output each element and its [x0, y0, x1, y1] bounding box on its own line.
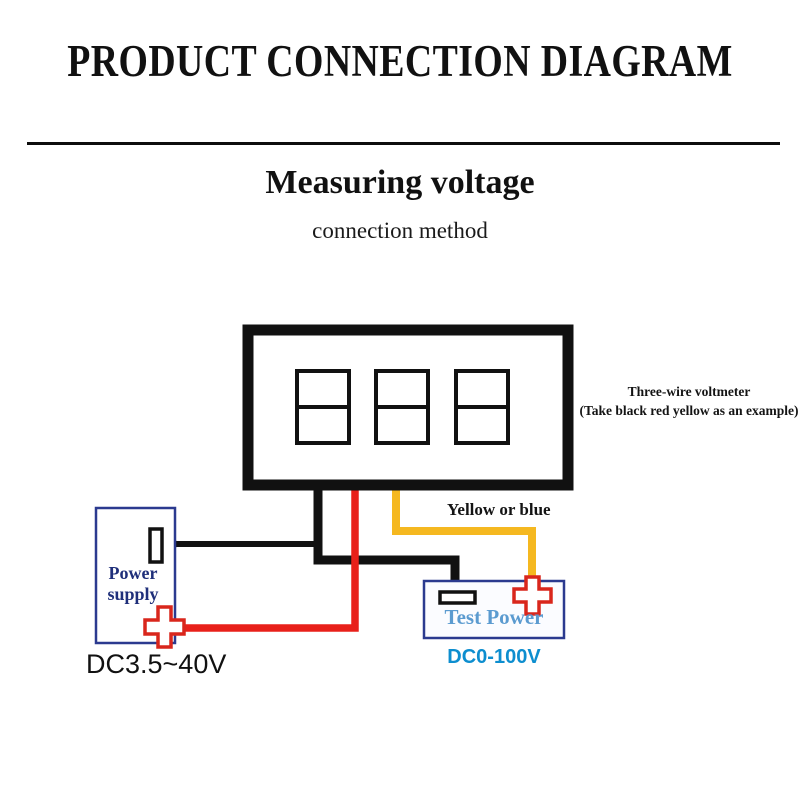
power-supply-label-line2: supply	[94, 584, 172, 605]
yellow-wire	[396, 484, 532, 584]
display-digit	[376, 371, 428, 443]
voltmeter-note-line2: (Take black red yellow as an example)	[578, 401, 800, 420]
test-power-label: Test Power	[424, 605, 564, 630]
power-supply-label-line1: Power	[94, 563, 172, 584]
power-supply-label: Power supply	[94, 563, 172, 605]
test-power-caption: DC0-100V	[424, 645, 564, 669]
power-supply-caption: DC3.5~40V	[86, 648, 226, 680]
test-power-minus-terminal	[440, 592, 475, 603]
voltmeter-note: Three-wire voltmeter (Take black red yel…	[578, 382, 800, 420]
power-supply-minus-terminal	[150, 529, 162, 562]
display-digit	[456, 371, 508, 443]
voltmeter-display	[297, 371, 508, 443]
display-digit	[297, 371, 349, 443]
yellow-wire-label: Yellow or blue	[447, 500, 551, 520]
voltmeter-note-line1: Three-wire voltmeter	[578, 382, 800, 401]
